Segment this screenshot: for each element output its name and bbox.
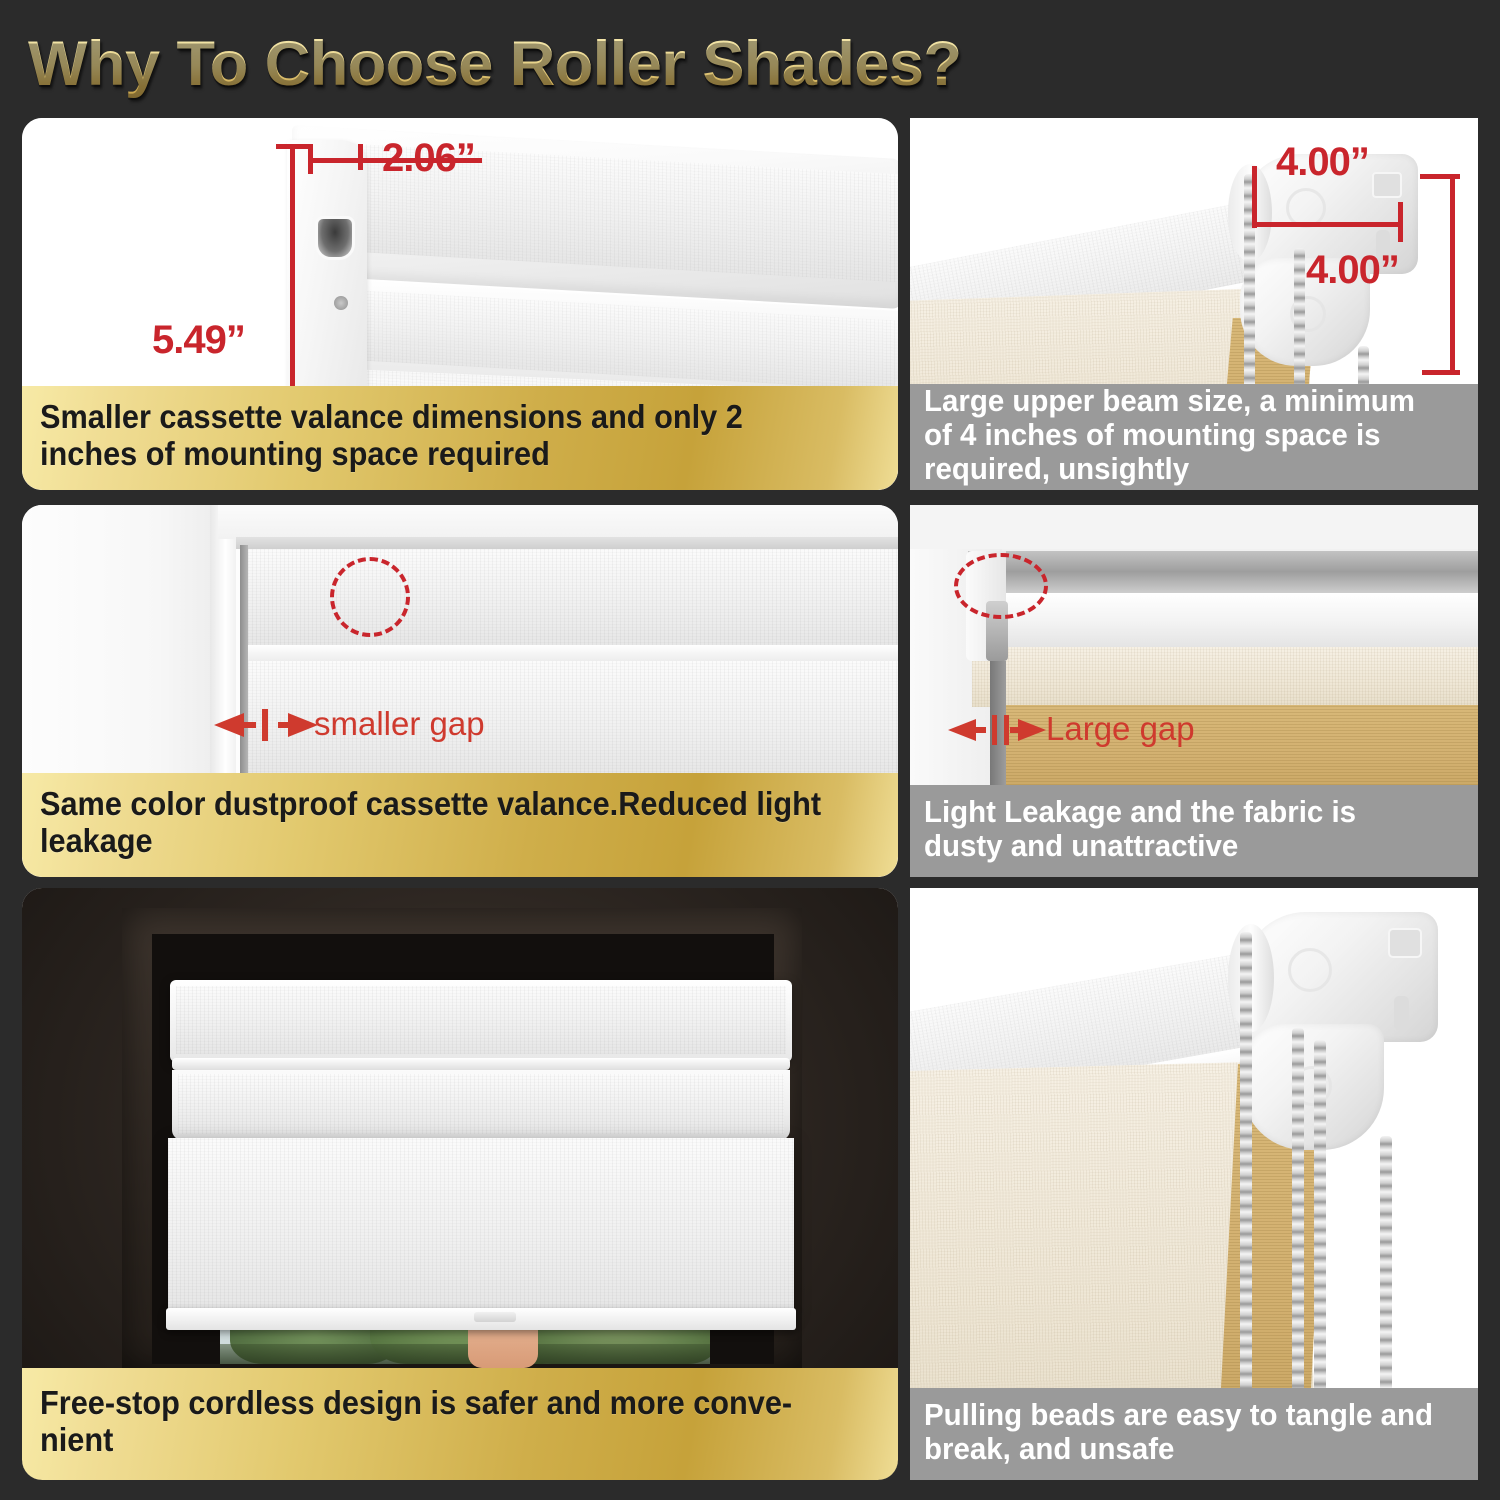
caption-text: Pulling beads are easy to tangle and bre… [924, 1398, 1437, 1466]
smaller-gap-label: smaller gap [314, 705, 485, 743]
bead-chain [1292, 1028, 1304, 1444]
caption-bar-light-leakage-dusty-fabric: Light Leakage and the fabric is dusty an… [910, 785, 1478, 877]
bead-chain [1240, 932, 1252, 1444]
caption-bar-cassette-valance-dimensions: Smaller cassette valance dimensions and … [22, 386, 898, 490]
panel-dustproof-cassette-valance: smaller gap Same color dustproof cassett… [22, 505, 898, 877]
caption-text: Same color dustproof cassette valance.Re… [40, 786, 821, 860]
width-dimension-label: 2.06” [382, 136, 475, 181]
large-gap-arrows [946, 711, 1050, 749]
beam-width-tick-right [1398, 202, 1403, 242]
valance-highlight-circle [330, 557, 410, 637]
caption-text: Light Leakage and the fabric is dusty an… [924, 795, 1437, 863]
large-gap-label: Large gap [1046, 710, 1195, 748]
panel-large-upper-beam: 4.00” 4.00” Large upper beam size, a min… [910, 118, 1478, 490]
caption-bar-large-upper-beam: Large upper beam size, a minimum of 4 in… [910, 384, 1478, 490]
panel-free-stop-cordless-design: Free-stop cordless design is safer and m… [22, 888, 898, 1480]
beam-width-tick-left [1252, 166, 1257, 228]
beam-width-line [1254, 222, 1402, 227]
caption-text: Large upper beam size, a minimum of 4 in… [924, 384, 1437, 485]
caption-bar-pulling-beads-tangle: Pulling beads are easy to tangle and bre… [910, 1388, 1478, 1480]
gap-highlight-circle [954, 553, 1048, 619]
panel-light-leakage-dusty-fabric: Large gap Light Leakage and the fabric i… [910, 505, 1478, 877]
beam-height-tick-top [1420, 174, 1460, 179]
width-dimension-tick-right [358, 144, 363, 170]
height-dimension-tick-top [276, 144, 310, 149]
caption-text: Smaller cassette valance dimensions and … [40, 399, 821, 473]
smaller-gap-arrows [212, 705, 322, 745]
beam-width-label: 4.00” [1276, 140, 1369, 185]
panel-cassette-valance-dimensions: 2.06” 5.49” Smaller cassette valance dim… [22, 118, 898, 490]
beam-height-line [1450, 176, 1455, 374]
panel-pulling-beads-tangle: Pulling beads are easy to tangle and bre… [910, 888, 1478, 1480]
caption-bar-free-stop-cordless-design: Free-stop cordless design is safer and m… [22, 1368, 898, 1480]
beam-height-label: 4.00” [1306, 248, 1399, 293]
bead-chain [1314, 1040, 1326, 1444]
height-dimension-label: 5.49” [152, 318, 245, 363]
comparison-grid: 2.06” 5.49” Smaller cassette valance dim… [0, 0, 1500, 1500]
caption-bar-dustproof-cassette-valance: Same color dustproof cassette valance.Re… [22, 773, 898, 877]
beam-height-tick-bottom [1422, 370, 1460, 375]
caption-text: Free-stop cordless design is safer and m… [40, 1385, 821, 1459]
